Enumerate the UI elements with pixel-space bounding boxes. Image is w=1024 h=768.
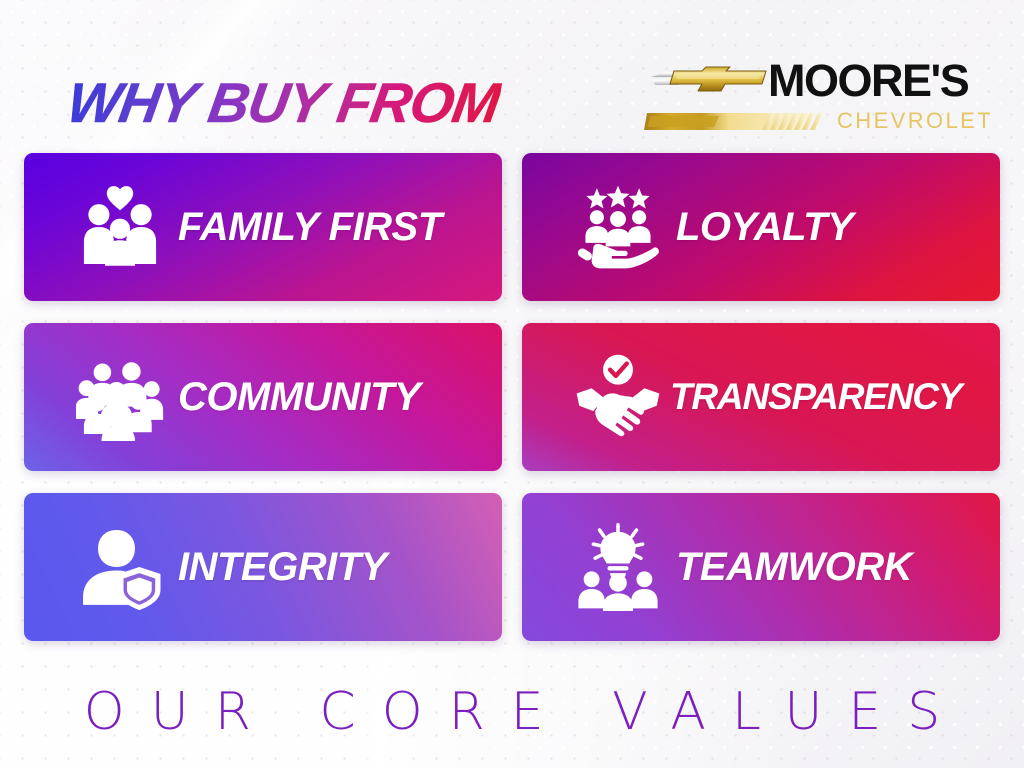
lightbulb-team-icon <box>566 521 670 613</box>
value-card-loyalty[interactable]: LOYALTY <box>522 153 1000 301</box>
dealership-logo[interactable]: MOORE'S <box>642 46 972 142</box>
person-shield-icon <box>68 521 172 613</box>
logo-wordmark: MOORE'S <box>768 56 968 106</box>
logo-gold-bar-icon <box>644 108 854 134</box>
core-values-grid: FAMILY FIRST <box>24 153 1000 641</box>
value-card-community[interactable]: COMMUNITY <box>24 323 502 471</box>
value-card-label: LOYALTY <box>676 205 853 249</box>
value-card-transparency[interactable]: TRANSPARENCY <box>522 323 1000 471</box>
family-heart-icon <box>68 181 172 273</box>
value-card-label: INTEGRITY <box>178 545 387 589</box>
chevrolet-bowtie-icon <box>650 62 770 106</box>
handshake-check-icon <box>566 351 670 443</box>
footer-tagline: OUR CORE VALUES <box>58 682 967 742</box>
value-card-label: COMMUNITY <box>178 375 420 419</box>
logo-subtext: CHEVROLET <box>837 108 993 134</box>
people-crowd-icon <box>68 351 172 443</box>
value-card-label: TRANSPARENCY <box>670 375 961 419</box>
poster-root: WHY BUY FROM <box>0 0 1024 768</box>
value-card-integrity[interactable]: INTEGRITY <box>24 493 502 641</box>
hand-holding-people-stars-icon <box>566 181 670 273</box>
value-card-family-first[interactable]: FAMILY FIRST <box>24 153 502 301</box>
footer: OUR CORE VALUES <box>0 672 1024 752</box>
value-card-label: TEAMWORK <box>676 545 912 589</box>
header: WHY BUY FROM <box>0 34 1024 126</box>
value-card-label: FAMILY FIRST <box>178 205 442 249</box>
value-card-teamwork[interactable]: TEAMWORK <box>522 493 1000 641</box>
page-title: WHY BUY FROM <box>63 74 503 132</box>
